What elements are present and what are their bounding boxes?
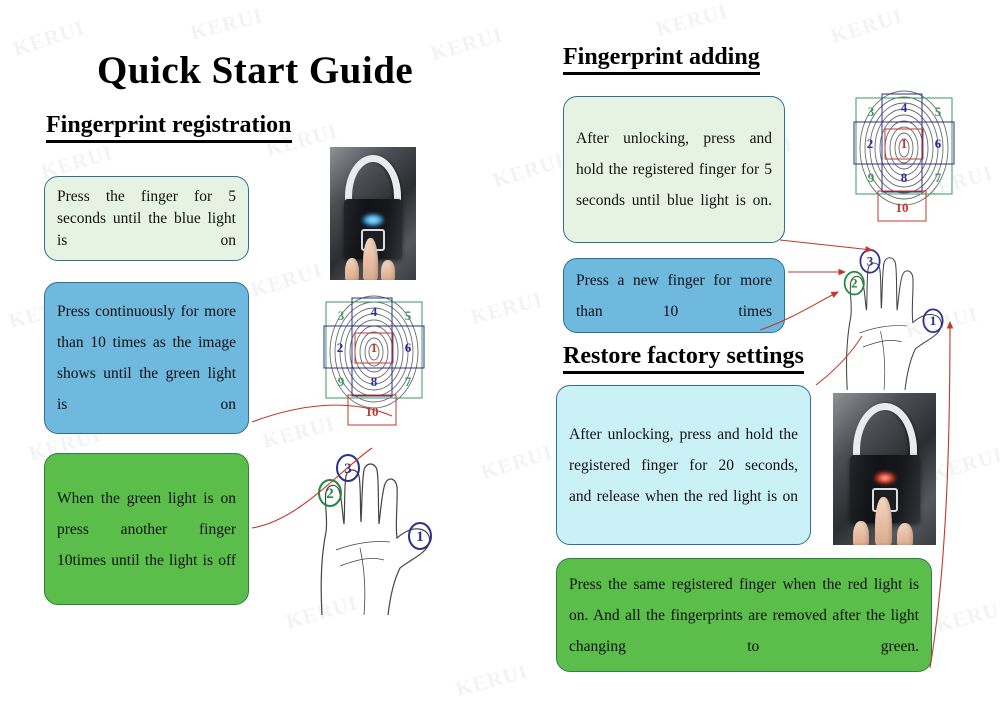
fp-number-9: 9 bbox=[338, 374, 345, 389]
finger-illustration bbox=[849, 497, 921, 545]
fingerprint-diagram-left: 1 2 3 4 5 6 7 8 9 10 bbox=[308, 288, 440, 430]
fp-number-3: 3 bbox=[338, 308, 345, 323]
fp-region-bottom bbox=[348, 395, 396, 425]
fingerprint-ridges bbox=[330, 296, 418, 408]
finger bbox=[897, 523, 913, 545]
watermark: KERUI bbox=[468, 287, 546, 330]
fp-number-8: 8 bbox=[371, 374, 378, 389]
watermark: KERUI bbox=[248, 258, 326, 304]
callout-adding-step-2: Press a new finger for more than 10 time… bbox=[563, 258, 785, 333]
callout-restore-step-2: Press the same registered finger when th… bbox=[556, 558, 932, 672]
hand-markers: 1 2 3 bbox=[845, 250, 943, 332]
watermark: KERUI bbox=[428, 22, 506, 66]
fp-number-5: 5 bbox=[405, 308, 412, 323]
quick-start-guide-page: KERUI KERUI KERUI KERUI KERUI KERUI KERU… bbox=[0, 0, 1000, 725]
fp-number-9: 9 bbox=[868, 170, 875, 185]
fp-region-mid-v bbox=[352, 298, 392, 396]
hand-outline bbox=[847, 258, 942, 390]
section-heading-adding: Fingerprint adding bbox=[563, 44, 760, 75]
fp-number-8: 8 bbox=[901, 170, 908, 185]
page-title: Quick Start Guide bbox=[97, 48, 413, 93]
fingerprint-diagram-right: 1 2 3 4 5 6 7 8 9 10 bbox=[838, 82, 970, 228]
hand-diagram-right: 1 2 3 bbox=[828, 228, 1000, 403]
hand-number-2: 2 bbox=[851, 276, 858, 291]
callout-text: After unlocking, press and hold the regi… bbox=[564, 123, 784, 216]
marker-circle-3 bbox=[337, 455, 359, 481]
callout-restore-step-1: After unlocking, press and hold the regi… bbox=[556, 385, 811, 545]
hand-outline bbox=[321, 464, 429, 615]
callout-adding-step-1: After unlocking, press and hold the regi… bbox=[563, 96, 785, 243]
padlock-photo-blue-led bbox=[330, 147, 416, 280]
marker-circle-1 bbox=[409, 523, 431, 549]
watermark: KERUI bbox=[828, 4, 906, 50]
marker-circle-1 bbox=[923, 309, 942, 332]
hand-markers: 1 2 3 bbox=[319, 455, 431, 549]
hand-number-3: 3 bbox=[344, 461, 352, 477]
watermark: KERUI bbox=[903, 301, 981, 343]
watermark: KERUI bbox=[283, 590, 361, 634]
callout-registration-step-3: When the green light is on press another… bbox=[44, 453, 249, 605]
connector-reg2-to-fingerprint bbox=[252, 405, 392, 422]
connector-reg3-to-hand bbox=[252, 448, 372, 528]
padlock-led-blue-icon bbox=[361, 213, 385, 227]
fp-number-5: 5 bbox=[935, 104, 942, 119]
finger bbox=[853, 521, 869, 545]
callout-text: Press a new finger for more than 10 time… bbox=[564, 265, 784, 327]
fp-number-7: 7 bbox=[935, 170, 942, 185]
fp-number-6: 6 bbox=[935, 136, 942, 151]
hand-number-2: 2 bbox=[326, 486, 334, 502]
fp-region-mid-h bbox=[324, 326, 424, 368]
fp-number-1: 1 bbox=[901, 136, 908, 151]
watermark: KERUI bbox=[478, 440, 556, 486]
watermark: KERUI bbox=[260, 411, 338, 454]
finger bbox=[381, 260, 395, 280]
fp-number-10: 10 bbox=[366, 404, 379, 419]
watermark: KERUI bbox=[188, 3, 266, 45]
callout-registration-step-1: Press the finger for 5 seconds until the… bbox=[44, 176, 249, 261]
callout-text: After unlocking, press and hold the regi… bbox=[557, 419, 810, 512]
fp-region-outer bbox=[326, 302, 422, 398]
fp-number-4: 4 bbox=[371, 304, 378, 319]
fp-number-7: 7 bbox=[405, 374, 412, 389]
fingerprint-ridges bbox=[860, 91, 948, 205]
hand-number-1: 1 bbox=[416, 529, 424, 545]
watermark: KERUI bbox=[453, 659, 531, 702]
hand-diagram-left: 1 2 3 bbox=[300, 440, 500, 620]
padlock-photo-red-led bbox=[833, 393, 936, 545]
connector-add1-to-marker3 bbox=[780, 240, 872, 250]
fp-number-10: 10 bbox=[896, 200, 909, 215]
section-heading-registration: Fingerprint registration bbox=[46, 112, 292, 143]
padlock-led-red-icon bbox=[873, 471, 897, 485]
fp-number-3: 3 bbox=[868, 104, 875, 119]
finger bbox=[363, 238, 378, 280]
marker-circle-2 bbox=[845, 272, 864, 295]
callout-text: Press the same registered finger when th… bbox=[557, 569, 931, 662]
callout-text: Press the finger for 5 seconds until the… bbox=[45, 186, 248, 252]
finger bbox=[875, 497, 892, 545]
watermark: KERUI bbox=[653, 0, 731, 42]
marker-circle-2 bbox=[319, 480, 341, 506]
hand-number-1: 1 bbox=[930, 313, 937, 328]
watermark: KERUI bbox=[928, 442, 1000, 486]
fp-number-2: 2 bbox=[337, 340, 344, 355]
fingerprint-numbers: 1 2 3 4 5 6 7 8 9 10 bbox=[337, 304, 412, 419]
watermark: KERUI bbox=[933, 595, 1000, 638]
finger bbox=[345, 258, 359, 280]
fp-number-2: 2 bbox=[867, 136, 874, 151]
connector-restore-diagonal bbox=[816, 336, 862, 385]
callout-text: When the green light is on press another… bbox=[45, 483, 248, 576]
watermark: KERUI bbox=[10, 15, 88, 62]
watermark: KERUI bbox=[490, 148, 568, 194]
section-heading-restore: Restore factory settings bbox=[563, 343, 804, 374]
fp-number-6: 6 bbox=[405, 340, 412, 355]
fp-number-1: 1 bbox=[371, 340, 378, 355]
callout-text: Press continuously for more than 10 time… bbox=[45, 296, 248, 420]
watermark: KERUI bbox=[918, 160, 996, 204]
finger-illustration bbox=[343, 238, 403, 280]
callout-registration-step-2: Press continuously for more than 10 time… bbox=[44, 282, 249, 434]
hand-number-3: 3 bbox=[867, 254, 874, 269]
marker-circle-3 bbox=[860, 250, 879, 273]
fp-number-4: 4 bbox=[901, 100, 908, 115]
fp-region-center bbox=[355, 333, 393, 363]
